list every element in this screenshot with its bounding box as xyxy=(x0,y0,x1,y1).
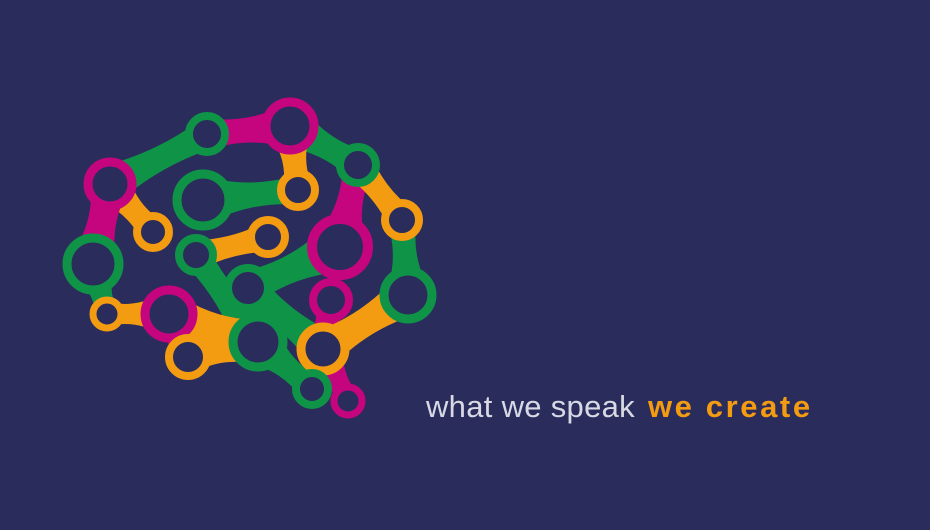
logo-node-n15 xyxy=(93,300,121,328)
logo-node-n12 xyxy=(179,238,213,272)
logo-node-n1 xyxy=(189,116,225,152)
logo-node-n11 xyxy=(312,219,368,275)
tagline-accent-text: we create xyxy=(648,389,813,425)
logo-node-n5 xyxy=(177,174,229,226)
logo-node-n18 xyxy=(169,338,207,376)
logo-node-n17 xyxy=(313,282,349,318)
brain-network-logo xyxy=(55,92,445,442)
logo-node-group xyxy=(67,102,432,415)
tagline: what we speak we create xyxy=(426,387,813,427)
logo-node-n8 xyxy=(137,216,169,248)
logo-node-n2 xyxy=(266,102,314,150)
logo-node-n4 xyxy=(88,162,132,206)
logo-node-n9 xyxy=(251,220,285,254)
logo-node-n6 xyxy=(281,173,315,207)
logo-node-n3 xyxy=(340,147,376,183)
logo-node-n13 xyxy=(228,268,268,308)
tagline-light-text: what we speak xyxy=(426,389,635,425)
brain-network-svg xyxy=(55,92,445,442)
logo-node-n14 xyxy=(384,271,432,319)
logo-node-n19 xyxy=(233,317,283,367)
logo-canvas: what we speak we create xyxy=(0,0,930,530)
logo-node-n22 xyxy=(334,387,362,415)
logo-node-n16 xyxy=(145,290,193,338)
logo-node-n7 xyxy=(385,203,419,237)
logo-node-n20 xyxy=(301,327,345,371)
logo-node-n21 xyxy=(296,373,328,405)
logo-node-n10 xyxy=(67,238,119,290)
